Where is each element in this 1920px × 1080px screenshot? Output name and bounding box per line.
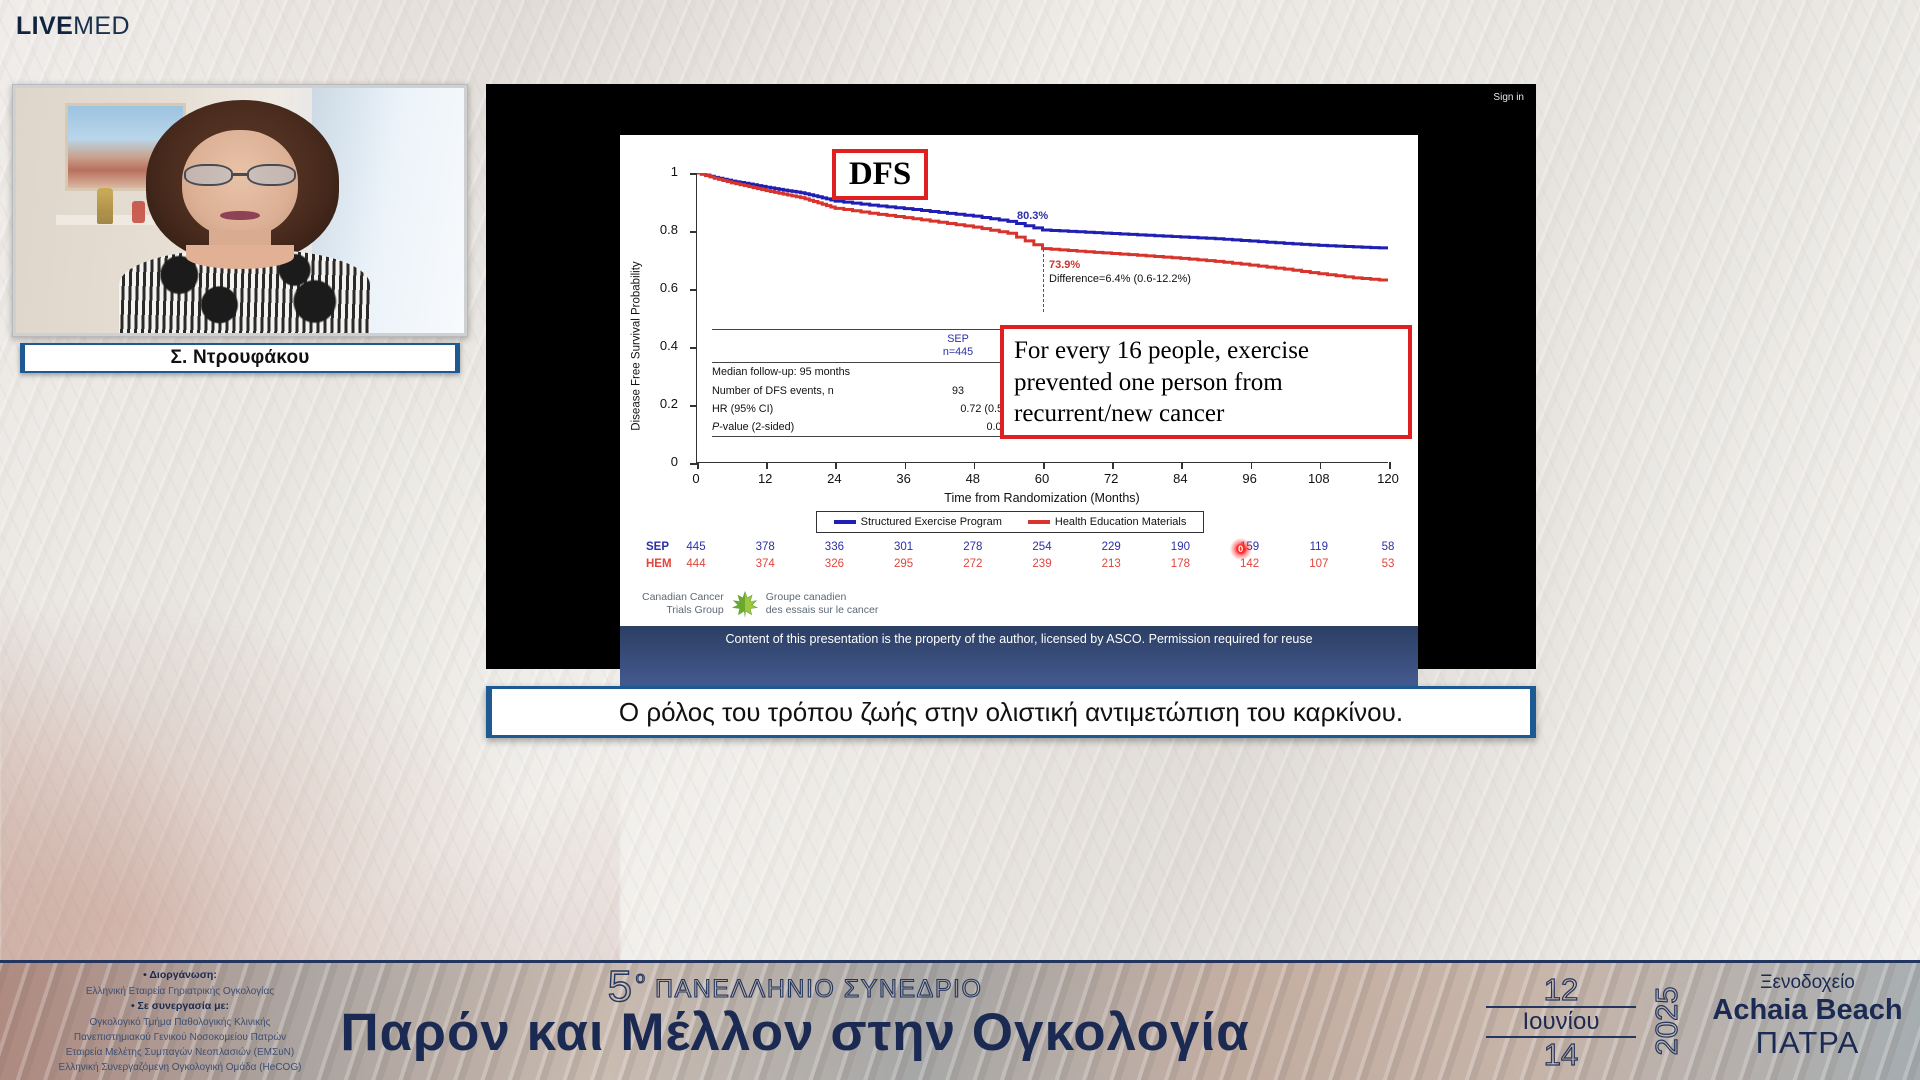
cctg-logo-english: Canadian Cancer Trials Group — [642, 591, 724, 617]
x-tick-24: 24 — [827, 471, 841, 486]
speaker-video-panel[interactable] — [12, 84, 468, 337]
slide-player[interactable]: Sign in Disease Free Survival Probabilit… — [486, 84, 1536, 669]
legend-item-hem: Health Education Materials — [1028, 516, 1186, 528]
at-risk-value: 326 — [825, 558, 844, 570]
conference-ordinal: ο — [636, 968, 647, 987]
stats-header-sep: SEP n=445 — [916, 333, 1000, 360]
x-tickmark — [1112, 462, 1114, 469]
x-tickmark — [1320, 462, 1322, 469]
x-tick-72: 72 — [1104, 471, 1118, 486]
at-risk-value: 374 — [756, 558, 775, 570]
at-risk-value: 295 — [894, 558, 913, 570]
legend-item-sep: Structured Exercise Program — [834, 516, 1002, 528]
y-tickmark — [690, 463, 697, 465]
at-risk-value: 378 — [756, 541, 775, 553]
legend-label-hem: Health Education Materials — [1055, 516, 1186, 528]
x-tick-108: 108 — [1308, 471, 1330, 486]
km-chart: Disease Free Survival Probability 00.20.… — [620, 135, 1418, 626]
livemed-logo: LIVEMED — [16, 14, 130, 39]
y-axis-title-text: Disease Free Survival Probability — [631, 261, 643, 430]
logo-med-text: MED — [73, 12, 130, 40]
stats-row-value-sep: 93 — [916, 385, 1000, 397]
conference-year: 2025 — [1622, 976, 1712, 1066]
organizers-block: • Διοργάνωση: Ελληνική Εταιρεία Γηριατρι… — [0, 968, 360, 1075]
x-tick-12: 12 — [758, 471, 772, 486]
partner-3: Ελληνική Συνεργαζόμενη Ογκολογική Ομάδα … — [0, 1060, 360, 1075]
x-tickmark — [905, 462, 907, 469]
stats-row-value-sep — [916, 366, 1000, 378]
date-to: 14 — [1486, 1039, 1636, 1070]
cursor-highlight: 0 — [1230, 538, 1252, 560]
at-risk-value: 58 — [1382, 541, 1395, 553]
legend-label-sep: Structured Exercise Program — [861, 516, 1002, 528]
chart-legend: Structured Exercise Program Health Educa… — [816, 511, 1204, 533]
x-tickmark — [1389, 462, 1391, 469]
speaker-nameplate: Σ. Ντρουφάκου — [20, 343, 460, 373]
at-risk-value: 107 — [1309, 558, 1328, 570]
venue-city: ΠΑΤΡΑ — [1700, 1026, 1915, 1061]
at-risk-value: 213 — [1102, 558, 1121, 570]
conference-title-block: 5ο ΠΑΝΕΛΛΗΝΙΟ ΣΥΝΕΔΡΙΟ Παρόν και Μέλλον … — [330, 964, 1260, 1060]
venue-kind: Ξενοδοχείο — [1700, 972, 1915, 994]
y-tickmark — [690, 231, 697, 233]
presentation-slide: Disease Free Survival Probability 00.20.… — [620, 135, 1418, 626]
x-tickmark — [697, 462, 699, 469]
y-tick-1: 1 — [652, 164, 678, 179]
organizer-heading: • Διοργάνωση: — [0, 968, 360, 984]
y-tick-0: 0 — [652, 454, 678, 469]
at-risk-value: 444 — [686, 558, 705, 570]
stats-row-label: Number of DFS events, n — [712, 385, 916, 397]
cctg-logo: Canadian Cancer Trials Group Groupe cana… — [642, 587, 878, 621]
video-trophy-object — [97, 188, 113, 224]
session-title-bar: Ο ρόλος του τρόπου ζωής στην ολιστική αν… — [486, 686, 1536, 738]
speaker-glasses — [184, 164, 296, 186]
x-axis-title: Time from Randomization (Months) — [696, 491, 1388, 505]
cctg-logo-french: Groupe canadien des essais sur le cancer — [766, 591, 879, 617]
organizer-name: Ελληνική Εταιρεία Γηριατρικής Ογκολογίας — [0, 984, 360, 999]
session-title-inner: Ο ρόλος του τρόπου ζωής στην ολιστική αν… — [492, 689, 1530, 735]
conference-kind: ΠΑΝΕΛΛΗΝΙΟ ΣΥΝΕΔΡΙΟ — [655, 975, 982, 1003]
y-tick-0-6: 0.6 — [652, 280, 678, 295]
y-tickmark — [690, 405, 697, 407]
video-vase-object — [132, 201, 145, 223]
maple-leaf-icon — [728, 589, 762, 619]
x-tick-48: 48 — [966, 471, 980, 486]
at-risk-value: 119 — [1310, 541, 1328, 553]
at-risk-value: 53 — [1382, 558, 1395, 570]
x-tickmark — [1251, 462, 1253, 469]
at-risk-row-hem: HEM44437432629527223921317814210753 — [646, 558, 1392, 575]
at-risk-row-sep: SEP445378336301278254229190159011958 — [646, 541, 1392, 558]
key-message-callout: For every 16 people, exercise prevented … — [1000, 325, 1412, 439]
reference-line-60-months — [1043, 249, 1044, 313]
at-risk-value: 239 — [1032, 558, 1051, 570]
x-tick-60: 60 — [1035, 471, 1049, 486]
speaker-nameplate-inner: Σ. Ντρουφάκου — [25, 345, 455, 371]
x-tickmark — [974, 462, 976, 469]
slide-footer-note: Content of this presentation is the prop… — [620, 632, 1418, 646]
at-risk-value: 178 — [1171, 558, 1190, 570]
y-axis-title: Disease Free Survival Probability — [626, 201, 648, 491]
y-tick-0-2: 0.2 — [652, 396, 678, 411]
at-risk-row-label-sep: SEP — [646, 541, 669, 553]
numbers-at-risk-table: SEP445378336301278254229190159011958 HEM… — [646, 541, 1392, 581]
conference-dates: 12 Ιουνίου 14 — [1486, 974, 1636, 1070]
x-tickmark — [1181, 462, 1183, 469]
conference-banner: • Διοργάνωση: Ελληνική Εταιρεία Γηριατρι… — [0, 960, 1920, 1080]
y-tickmark — [690, 289, 697, 291]
y-tick-0-8: 0.8 — [652, 222, 678, 237]
at-risk-value: 229 — [1102, 541, 1121, 553]
partners-heading: • Σε συνεργασία με: — [0, 999, 360, 1015]
date-from: 12 — [1486, 974, 1636, 1005]
stats-row-label: P-value (2-sided) — [712, 421, 916, 433]
partner-1-line2: Πανεπιστημιακού Γενικού Νοσοκομείου Πατρ… — [0, 1030, 360, 1045]
at-risk-row-label-hem: HEM — [646, 558, 672, 570]
venue-name: Achaia Beach — [1700, 994, 1915, 1026]
x-tickmark — [1043, 462, 1045, 469]
at-risk-value: 142 — [1240, 558, 1259, 570]
partner-2: Εταιρεία Μελέτης Συμπαγών Νεοπλασιών (ΕΜ… — [0, 1045, 360, 1060]
y-tickmark — [690, 347, 697, 349]
x-tick-84: 84 — [1173, 471, 1187, 486]
stats-row-label: Median follow-up: 95 months — [712, 366, 916, 378]
banner-top-rule — [0, 960, 1920, 963]
at-risk-value: 278 — [963, 541, 982, 553]
partner-1-line1: Ογκολογικό Τμήμα Παθολογικής Κλινικής — [0, 1015, 360, 1030]
speaker-mouth — [220, 211, 260, 221]
date-month: Ιουνίου — [1486, 1006, 1636, 1038]
y-tick-0-4: 0.4 — [652, 338, 678, 353]
sign-in-link[interactable]: Sign in — [1493, 92, 1524, 103]
stats-row-label: HR (95% CI) — [712, 403, 916, 415]
at-risk-value: 445 — [686, 541, 705, 553]
logo-live-text: LIVE — [16, 12, 73, 40]
speaker-video-frame — [16, 88, 464, 333]
legend-swatch-hem — [1028, 520, 1050, 523]
at-risk-value: 336 — [825, 541, 844, 553]
x-tickmark — [835, 462, 837, 469]
speaker-name-text: Σ. Ντρουφάκου — [170, 347, 309, 369]
x-tick-0: 0 — [692, 471, 699, 486]
annotation-hem-rate: 73.9% — [1049, 259, 1080, 271]
x-tick-120: 120 — [1377, 471, 1399, 486]
dfs-badge: DFS — [832, 149, 928, 200]
x-axis-tick-labels: 01224364860728496108120 — [696, 471, 1388, 489]
at-risk-value: 301 — [894, 541, 913, 553]
x-tick-36: 36 — [896, 471, 910, 486]
annotation-difference: Difference=6.4% (0.6-12.2%) — [1049, 273, 1191, 285]
at-risk-value: 190 — [1171, 541, 1190, 553]
x-tick-96: 96 — [1242, 471, 1256, 486]
annotation-sep-rate: 80.3% — [1017, 210, 1048, 222]
x-tickmark — [766, 462, 768, 469]
legend-swatch-sep — [834, 520, 856, 523]
at-risk-value: 254 — [1032, 541, 1051, 553]
conference-title: Παρόν και Μέλλον στην Ογκολογία — [330, 1006, 1260, 1060]
y-tickmark — [690, 173, 697, 175]
session-title-text: Ο ρόλος του τρόπου ζωής στην ολιστική αν… — [619, 697, 1403, 728]
venue-block: Ξενοδοχείο Achaia Beach ΠΑΤΡΑ — [1700, 972, 1915, 1061]
at-risk-value: 272 — [963, 558, 982, 570]
